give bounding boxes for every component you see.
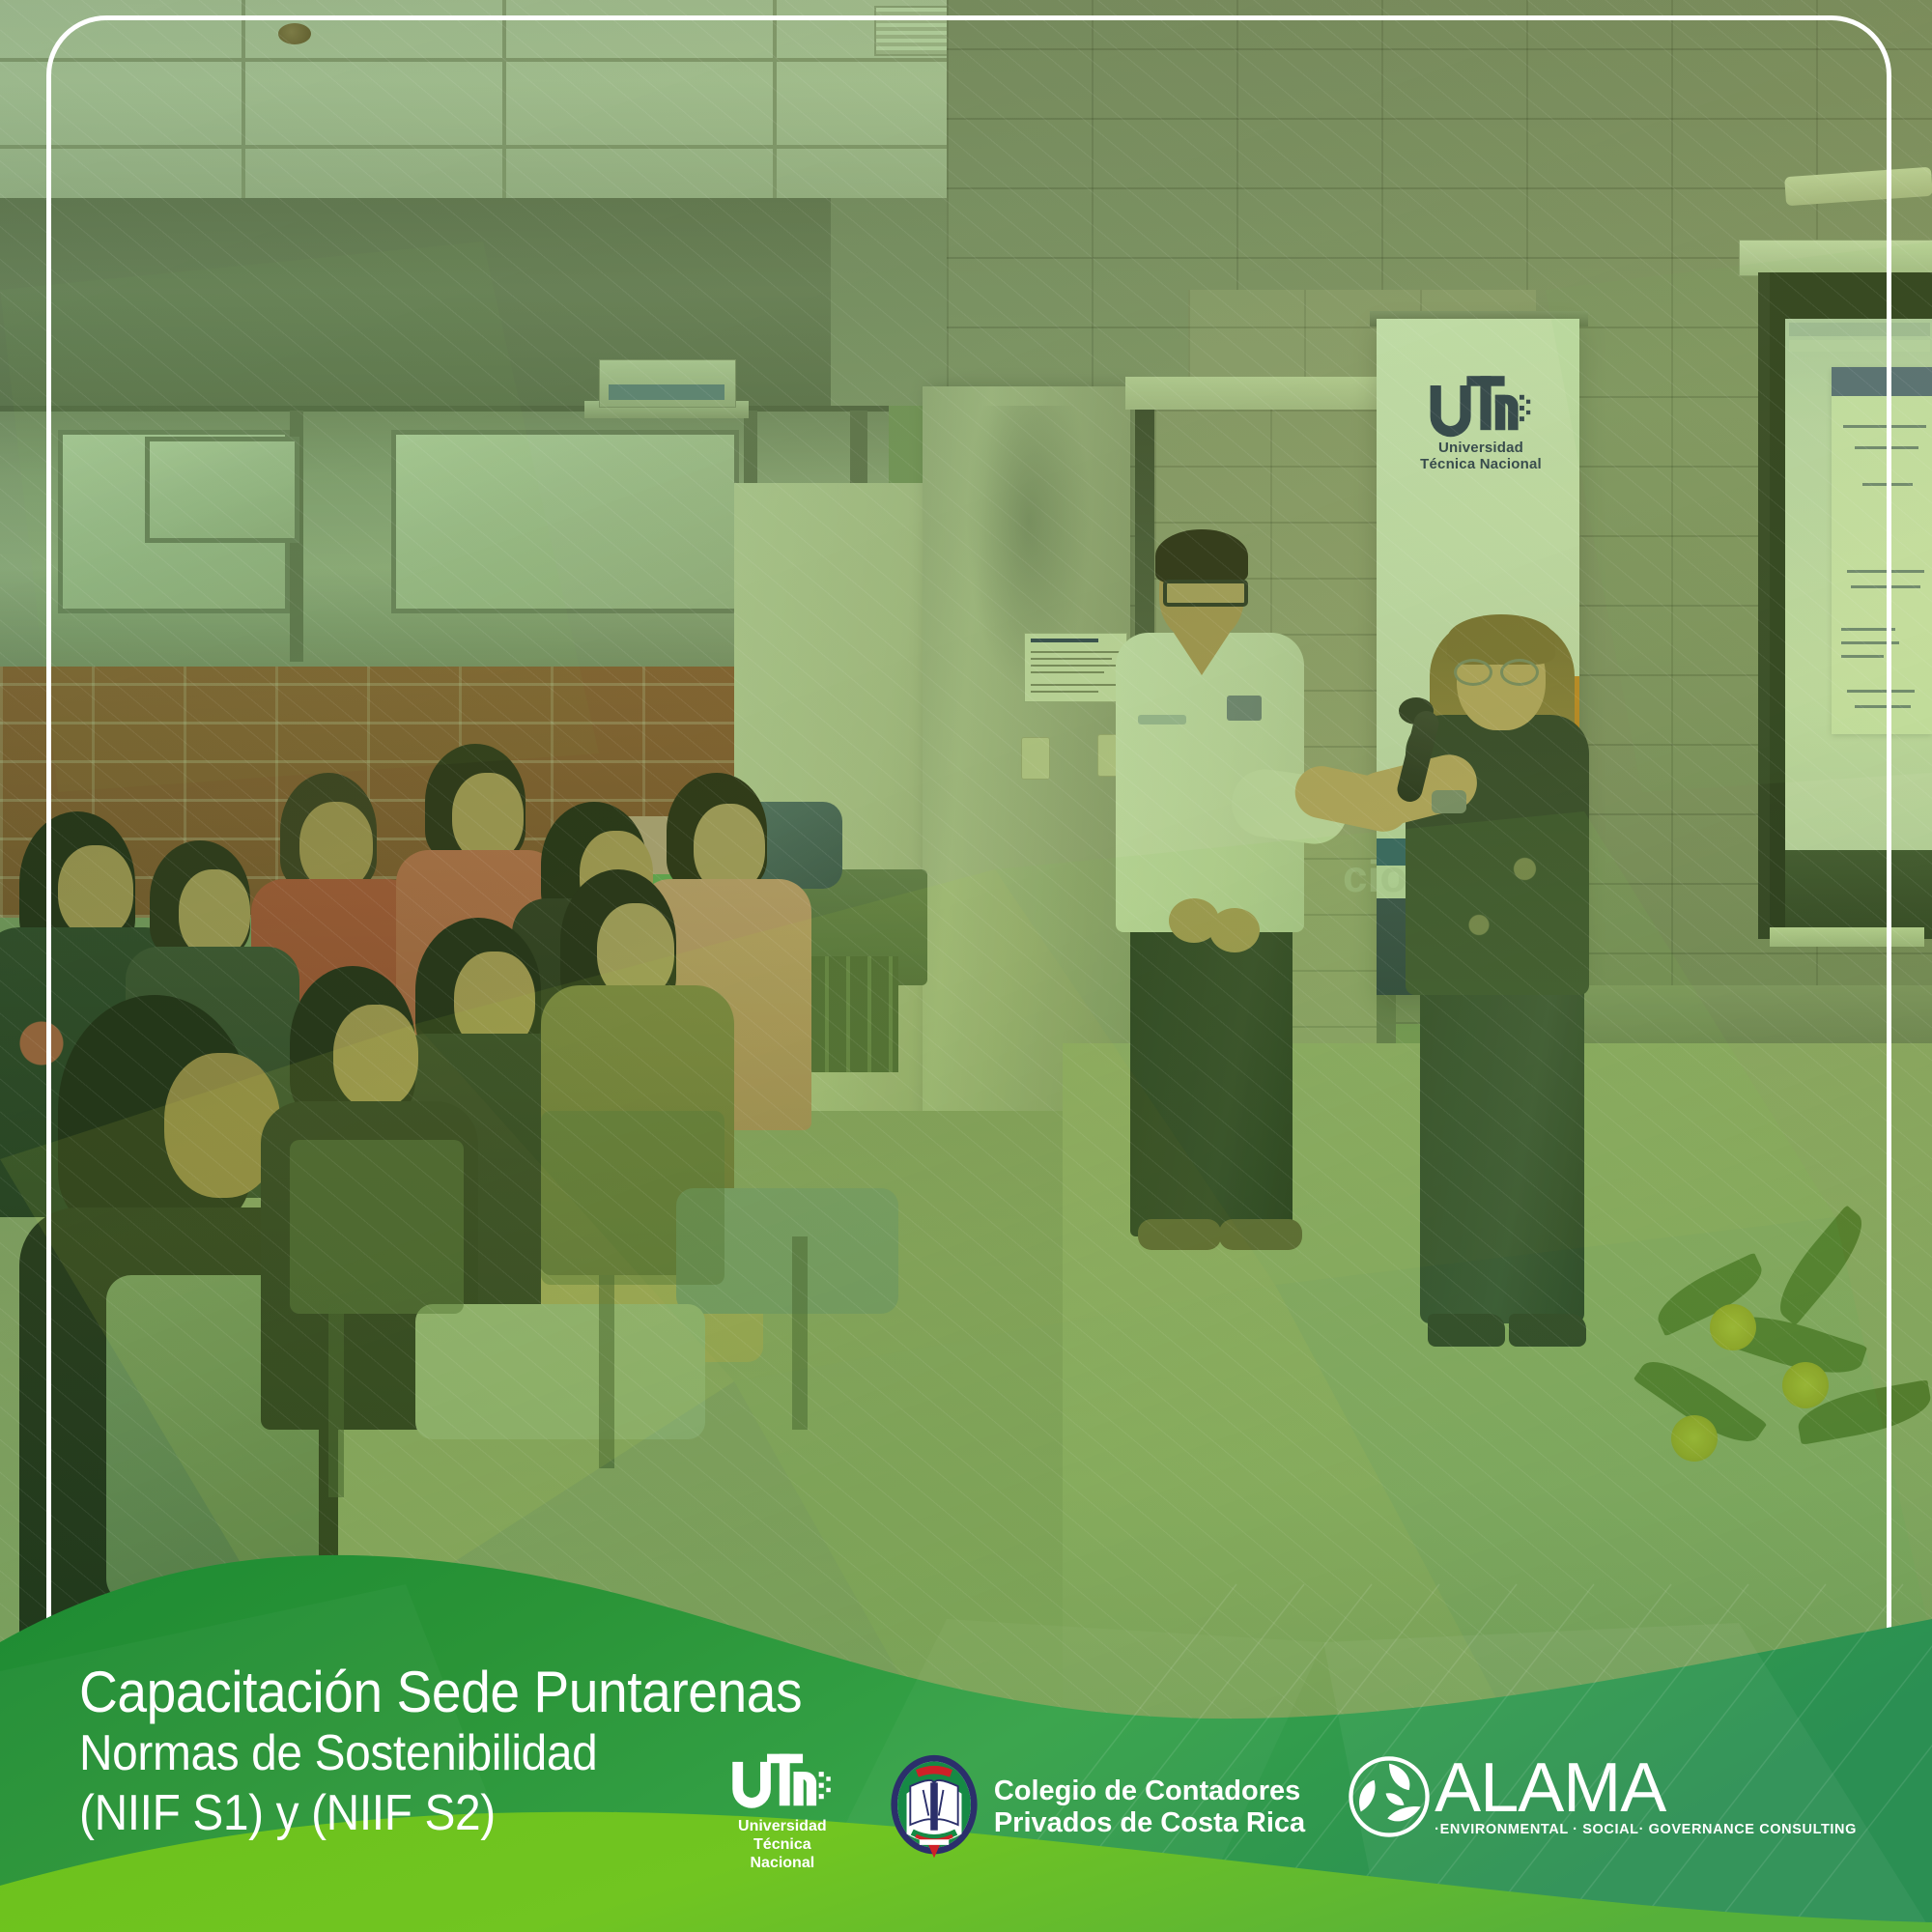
colegio-contadores-text: Colegio de Contadores Privados de Costa … bbox=[994, 1776, 1305, 1839]
colegio-contadores-seal-icon bbox=[888, 1753, 980, 1861]
alama-leaves-globe-icon bbox=[1348, 1755, 1431, 1838]
ccpa-line2: Privados de Costa Rica bbox=[994, 1807, 1305, 1839]
utn-line1: Universidad bbox=[720, 1817, 845, 1835]
utn-subtitle: Universidad Técnica Nacional bbox=[720, 1817, 845, 1872]
ccpa-line1: Colegio de Contadores bbox=[994, 1776, 1305, 1807]
footer-logo-row: Universidad Técnica Nacional bbox=[720, 1753, 1857, 1872]
logo-colegio-contadores: Colegio de Contadores Privados de Costa … bbox=[888, 1753, 1305, 1861]
utn-wordmark-icon bbox=[725, 1753, 839, 1811]
logo-utn: Universidad Técnica Nacional bbox=[720, 1753, 845, 1872]
footer-band: Capacitación Sede Puntarenas Normas de S… bbox=[0, 1526, 1932, 1932]
poster-canvas: Universidad Técnica Nacional ción bbox=[0, 0, 1932, 1932]
footer-title: Capacitación Sede Puntarenas bbox=[79, 1662, 879, 1723]
alama-wordmark: ALAMA ·ENVIRONMENTAL · SOCIAL· GOVERNANC… bbox=[1435, 1757, 1857, 1837]
logo-alama: ALAMA ·ENVIRONMENTAL · SOCIAL· GOVERNANC… bbox=[1348, 1755, 1857, 1838]
utn-line2: Técnica Nacional bbox=[720, 1835, 845, 1872]
alama-tagline: ·ENVIRONMENTAL · SOCIAL· GOVERNANCE CONS… bbox=[1435, 1822, 1857, 1837]
alama-name: ALAMA bbox=[1435, 1757, 1857, 1819]
